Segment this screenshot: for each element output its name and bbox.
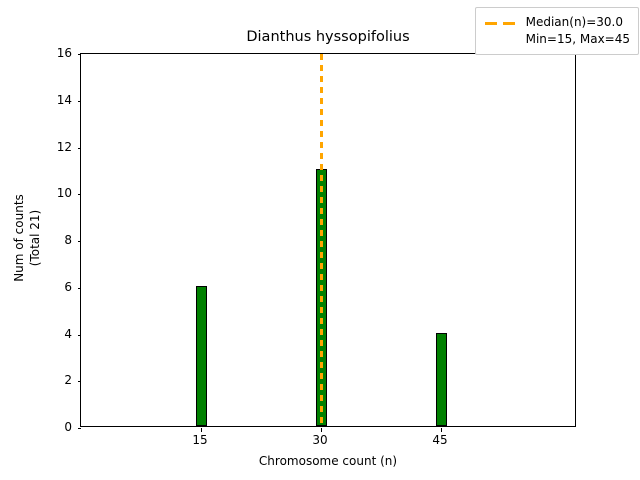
x-tick-label: 15 [192,433,207,447]
y-tick-mark [78,241,82,242]
y-tick-label: 4 [48,327,72,341]
y-tick-label: 2 [48,373,72,387]
plot-area [80,53,576,427]
y-tick-mark [78,381,82,382]
x-tick-mark [201,428,202,432]
bar [196,286,207,426]
y-tick-label: 16 [48,46,72,60]
legend-entry-median: Median(n)=30.0 [484,14,630,31]
x-tick-mark [321,428,322,432]
y-tick-mark [78,148,82,149]
y-tick-mark [78,54,82,55]
legend-box: Median(n)=30.0 Min=15, Max=45 [475,7,639,55]
y-tick-label: 14 [48,93,72,107]
y-tick-label: 0 [48,420,72,434]
y-tick-mark [78,288,82,289]
bar [436,333,447,427]
y-tick-label: 12 [48,140,72,154]
y-axis-label-container: Num of counts (Total 21) [0,0,48,480]
y-tick-label: 8 [48,233,72,247]
legend-label-median: Median(n)=30.0 [526,14,623,31]
dashed-line-icon [484,17,518,29]
y-tick-mark [78,194,82,195]
y-tick-mark [78,335,82,336]
legend-label-minmax: Min=15, Max=45 [526,31,630,48]
x-tick-mark [441,428,442,432]
y-axis-label: Num of counts (Total 21) [11,51,43,425]
y-tick-mark [78,428,82,429]
chart-figure: Dianthus hyssopifolius Num of counts (To… [0,0,640,480]
y-tick-label: 6 [48,280,72,294]
y-tick-mark [78,101,82,102]
y-tick-label: 10 [48,186,72,200]
x-axis-label: Chromosome count (n) [80,454,576,468]
x-tick-label: 45 [432,433,447,447]
x-tick-label: 30 [312,433,327,447]
median-line [320,54,323,426]
